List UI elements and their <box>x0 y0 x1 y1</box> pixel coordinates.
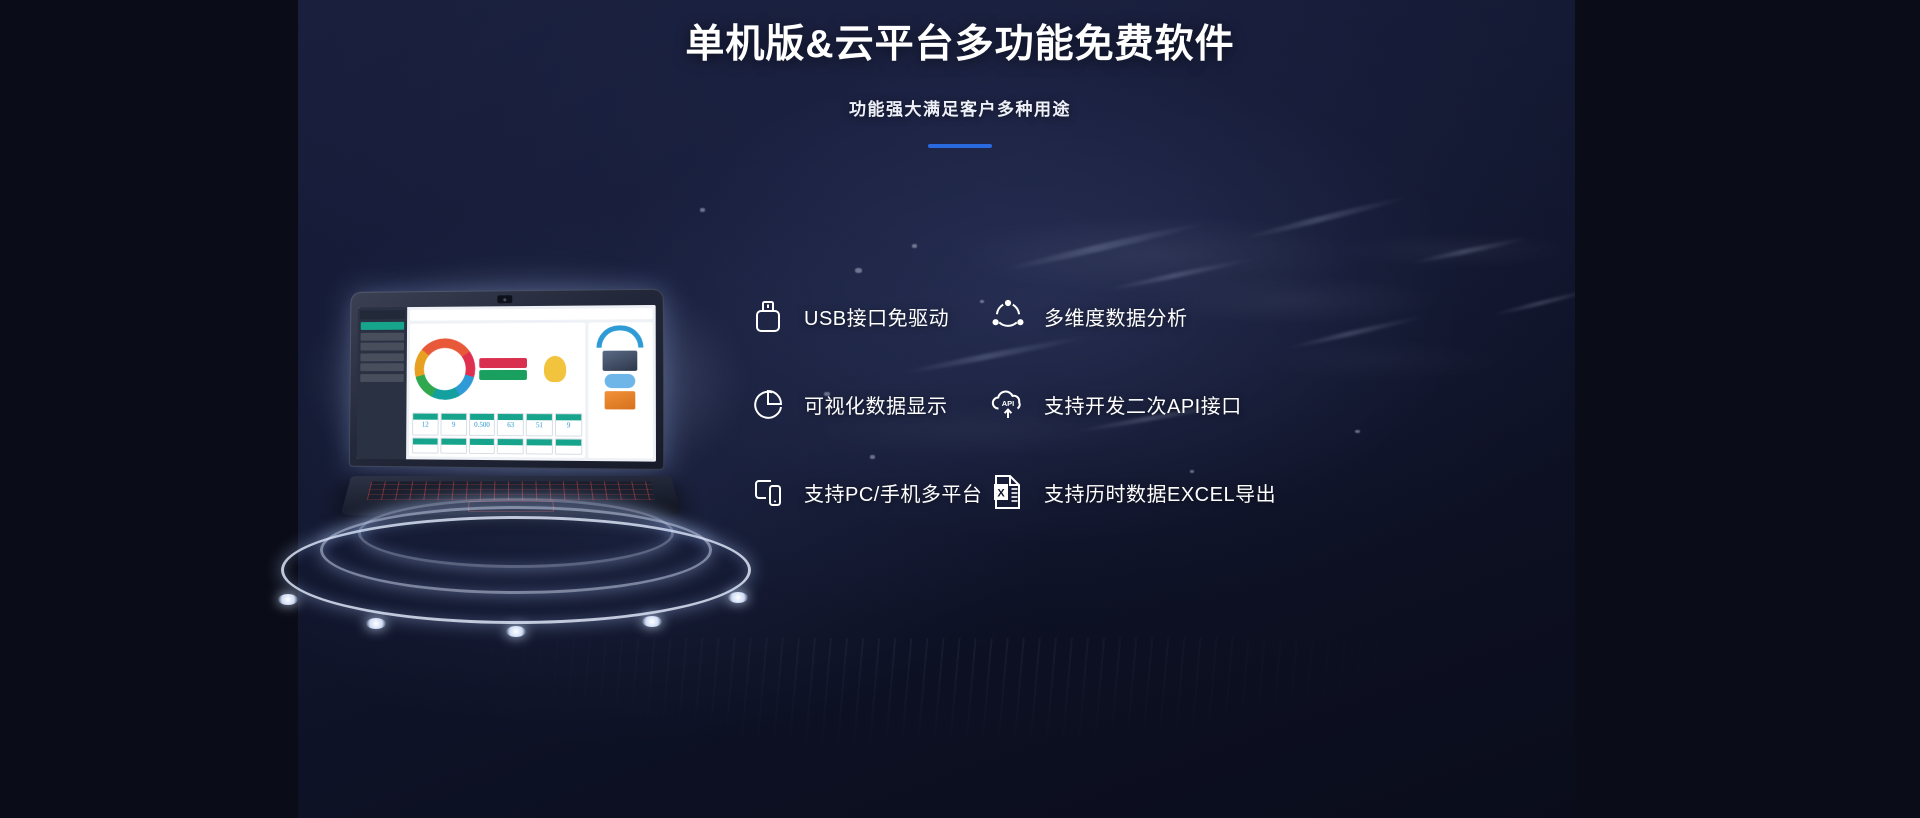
sidebar-item-settings[interactable] <box>360 374 404 382</box>
stat-card-unit <box>441 430 465 435</box>
feature-item-api[interactable]: API 支持开发二次API接口 <box>988 384 1308 424</box>
page-subtitle: 功能强大满足客户多种用途 <box>0 95 1920 120</box>
hero-headings: 单机版&云平台多功能免费软件 功能强大满足客户多种用途 <box>0 22 1920 148</box>
podium-lamp <box>642 616 662 627</box>
stat-card: 12 <box>412 413 438 436</box>
sidebar-item-alarms[interactable] <box>360 363 404 371</box>
svg-text:X: X <box>997 488 1005 500</box>
hero-banner: 单机版&云平台多功能免费软件 功能强大满足客户多种用途 <box>0 0 1920 818</box>
page-title: 单机版&云平台多功能免费软件 <box>0 22 1920 68</box>
stat-card-value: 9 <box>441 420 465 430</box>
pie-chart-icon <box>748 384 788 424</box>
podium-lamp <box>366 618 386 629</box>
dashboard-main: 12 9 0.500 <box>406 305 656 462</box>
stat-card-small <box>555 438 582 454</box>
stat-card-value: 63 <box>498 420 523 430</box>
dashboard-body: 12 9 0.500 <box>409 322 653 458</box>
stat-card-row: 12 9 0.500 <box>412 413 582 437</box>
server-illustration <box>603 351 638 371</box>
feature-item-excel-export[interactable]: X 支持历时数据EXCEL导出 <box>988 472 1308 512</box>
sidebar-item-devices[interactable] <box>361 332 404 340</box>
stat-card-value: 12 <box>413 420 437 430</box>
stat-card: 51 <box>526 413 553 436</box>
podium-lamp <box>728 592 748 603</box>
gauge-row <box>412 326 582 412</box>
bulb-icon <box>544 355 566 381</box>
devices-icon <box>748 472 788 512</box>
stat-card: 9 <box>555 413 582 436</box>
stat-card-value: 51 <box>527 420 552 430</box>
feature-label: 支持开发二次API接口 <box>1044 390 1242 419</box>
status-badge-ok <box>480 369 528 379</box>
tablet-illustration <box>605 391 636 409</box>
dashboard-sidebar <box>357 307 408 459</box>
stat-card-value: 9 <box>556 420 581 430</box>
svg-text:API: API <box>1002 399 1015 408</box>
podium-lamp <box>506 626 526 637</box>
architecture-diagram <box>597 325 644 347</box>
cloud-illustration <box>605 374 636 388</box>
floor-grid <box>300 638 1575 818</box>
status-card-group <box>480 357 528 379</box>
status-badge-alarm <box>480 357 528 367</box>
feature-item-multiplatform[interactable]: 支持PC/手机多平台 <box>748 472 988 512</box>
laptop-screen: 12 9 0.500 <box>357 305 656 462</box>
feature-item-analytics[interactable]: 多维度数据分析 <box>988 296 1308 336</box>
feature-label: USB接口免驱动 <box>804 302 949 331</box>
podium-ring-inner <box>358 498 674 568</box>
dashboard-panel-left: 12 9 0.500 <box>409 323 585 458</box>
stat-card-small <box>412 437 438 453</box>
laptop-lid: 12 9 0.500 <box>349 289 664 470</box>
stat-card-unit <box>556 430 581 435</box>
stat-card-small <box>469 438 496 454</box>
stat-card: 0.500 <box>469 413 496 436</box>
stat-card-unit <box>527 430 552 435</box>
stat-card-unit <box>413 430 437 435</box>
accent-divider <box>928 144 992 148</box>
stat-card-small <box>526 438 553 454</box>
stat-card: 63 <box>497 413 524 436</box>
feature-label: 支持PC/手机多平台 <box>804 478 982 507</box>
usb-drive-icon <box>748 296 788 336</box>
excel-file-icon: X <box>988 472 1028 512</box>
podium-rings <box>256 498 776 610</box>
feature-label: 可视化数据显示 <box>804 390 948 419</box>
stat-card-small <box>497 438 524 454</box>
feature-label: 支持历时数据EXCEL导出 <box>1044 478 1276 507</box>
stat-card-row-secondary <box>412 437 582 454</box>
stat-card: 9 <box>440 413 467 436</box>
dashboard-panel-right <box>588 322 653 458</box>
webcam-icon <box>497 295 512 303</box>
sidebar-item-reports[interactable] <box>360 353 404 361</box>
feature-item-usb[interactable]: USB接口免驱动 <box>748 296 988 336</box>
stat-card-value: 0.500 <box>470 420 495 430</box>
stat-card-unit <box>470 430 495 435</box>
stat-card-unit <box>498 430 523 435</box>
sidebar-item-data[interactable] <box>361 343 404 351</box>
dashboard-logo <box>360 310 405 319</box>
feature-item-visualization[interactable]: 可视化数据显示 <box>748 384 988 424</box>
donut-chart <box>415 338 476 400</box>
podium-lamp <box>278 594 298 605</box>
feature-label: 多维度数据分析 <box>1044 302 1188 331</box>
feature-grid: USB接口免驱动 多维度数据分析 <box>748 296 1348 512</box>
bulb-indicator-card <box>531 354 579 382</box>
dashboard-topbar <box>410 308 653 321</box>
sidebar-item-overview[interactable] <box>361 322 404 330</box>
share-nodes-icon <box>988 296 1028 336</box>
laptop-illustration: 12 9 0.500 <box>250 270 810 600</box>
stat-card-small <box>440 438 467 454</box>
api-cloud-icon: API <box>988 384 1028 424</box>
